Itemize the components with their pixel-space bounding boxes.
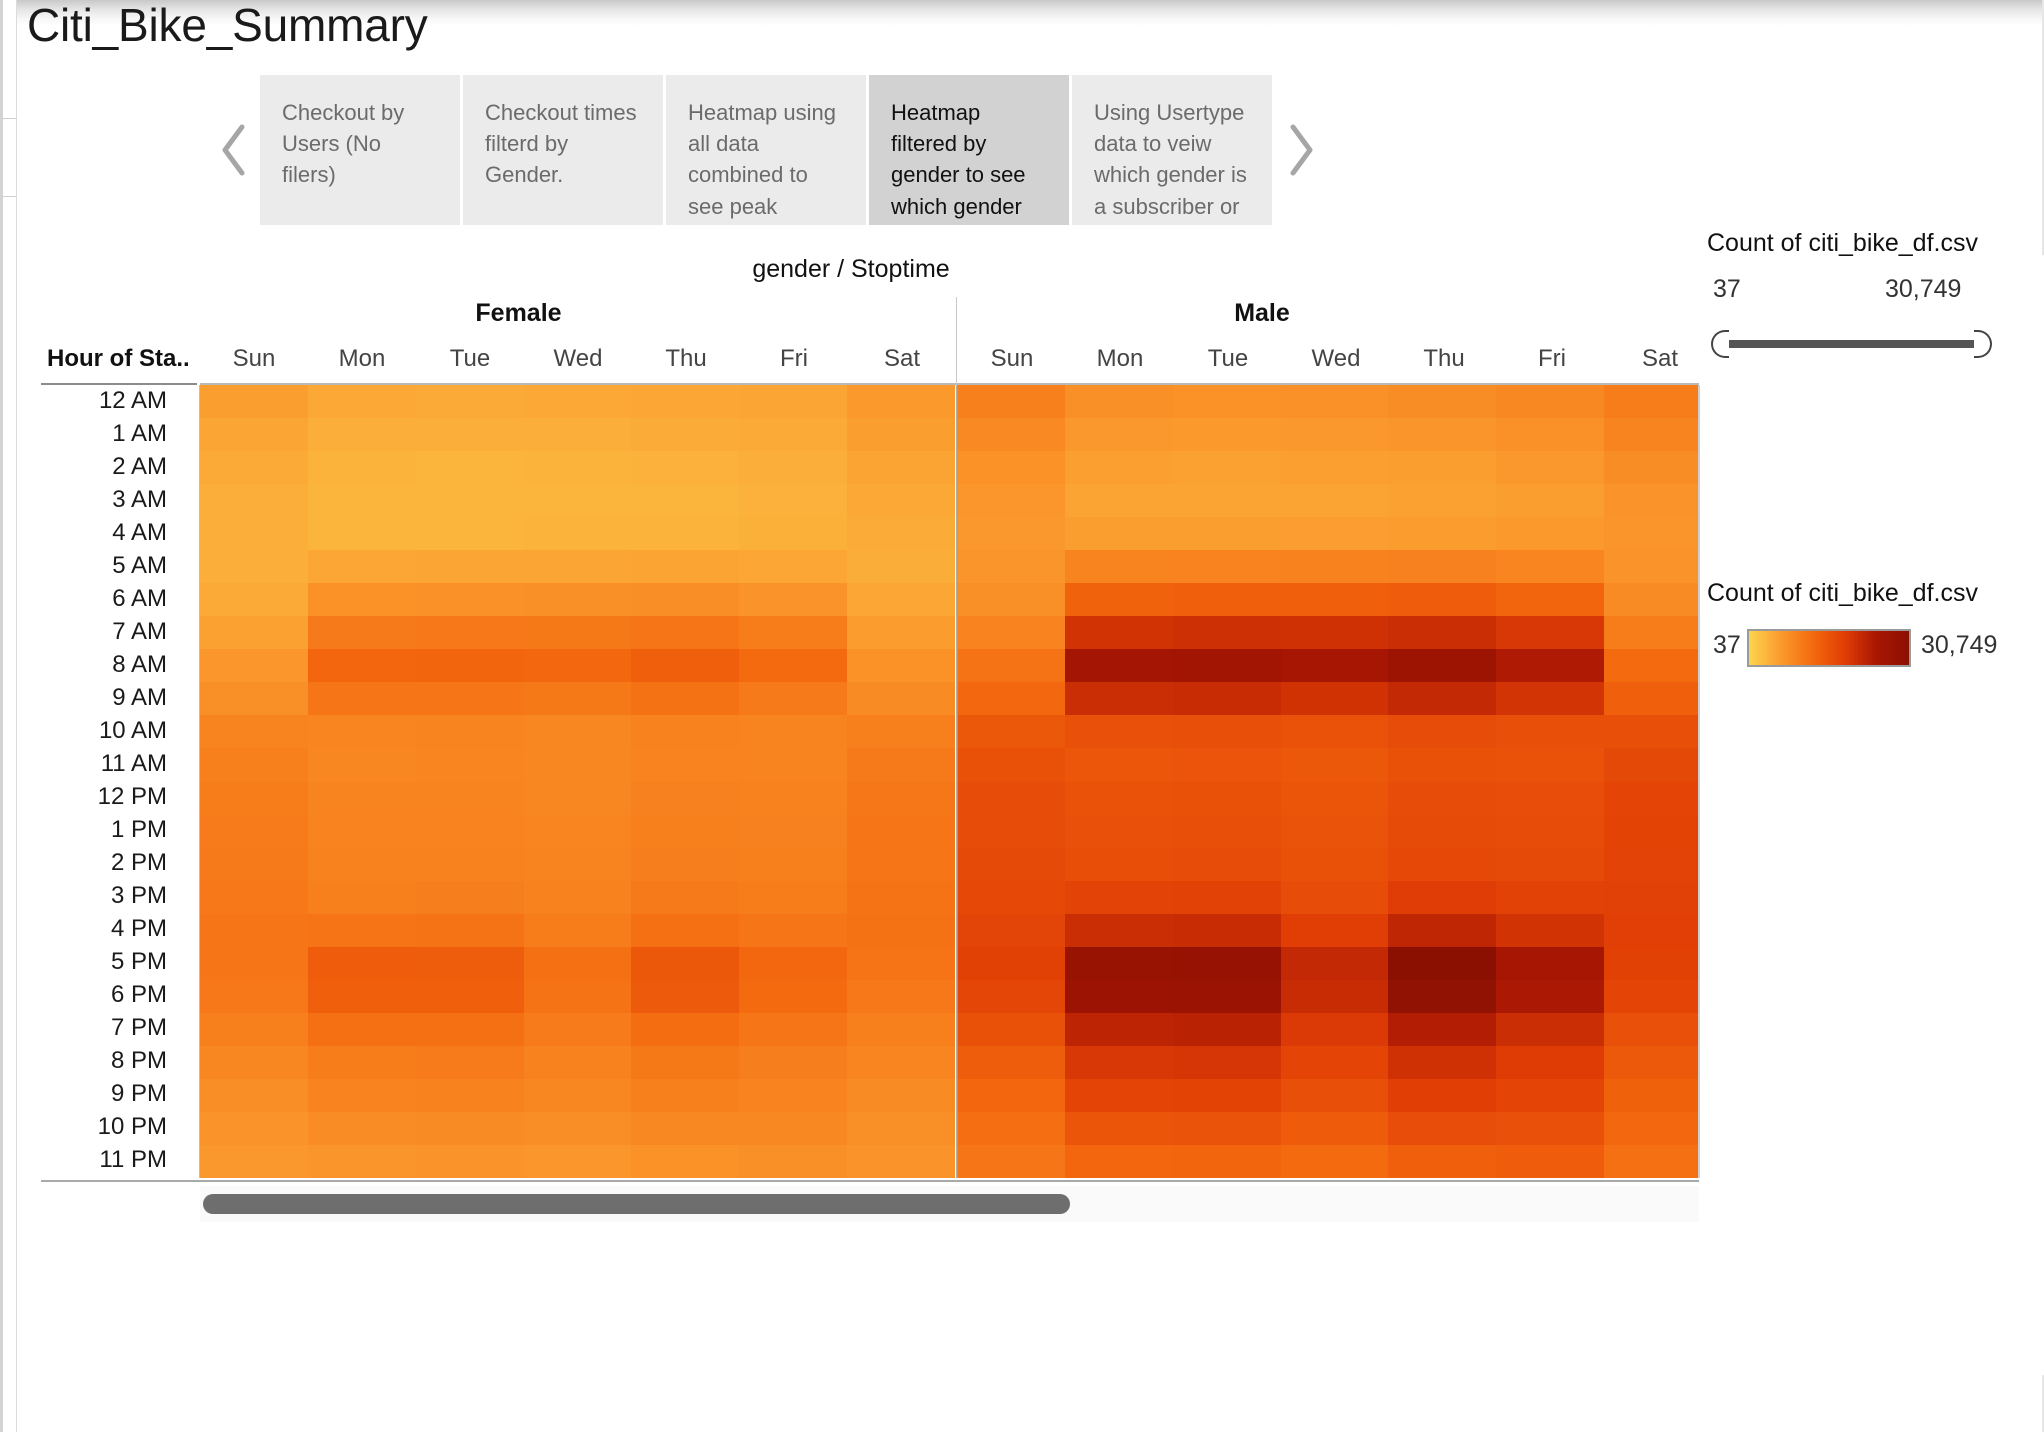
heatmap-cell[interactable]	[957, 1145, 1065, 1178]
heatmap-cell[interactable]	[1173, 848, 1281, 882]
heatmap-cell[interactable]	[1065, 881, 1173, 915]
heatmap-cell[interactable]	[416, 947, 524, 981]
heatmap-cell[interactable]	[1388, 881, 1496, 915]
heatmap-cell[interactable]	[631, 682, 739, 716]
heatmap-cell[interactable]	[739, 782, 847, 816]
heatmap-cell[interactable]	[1604, 1013, 1699, 1047]
heatmap-cell[interactable]	[957, 550, 1065, 584]
heatmap-cell[interactable]	[847, 484, 955, 518]
heatmap-cell[interactable]	[416, 517, 524, 551]
heatmap-cell[interactable]	[524, 715, 632, 749]
heatmap-cell[interactable]	[1496, 583, 1604, 617]
heatmap-cell[interactable]	[200, 881, 308, 915]
heatmap-cell[interactable]	[739, 914, 847, 948]
heatmap-cell[interactable]	[957, 1079, 1065, 1113]
heatmap-cell[interactable]	[200, 418, 308, 452]
heatmap-cell[interactable]	[1173, 947, 1281, 981]
story-tab-4[interactable]: Heatmap filtered by gender to see which …	[869, 75, 1069, 225]
heatmap-cell[interactable]	[524, 748, 632, 782]
heatmap-cell[interactable]	[200, 517, 308, 551]
heatmap-cell[interactable]	[847, 1013, 955, 1047]
heatmap-cell[interactable]	[631, 980, 739, 1014]
heatmap-cell[interactable]	[1281, 649, 1389, 683]
heatmap-cell[interactable]	[739, 748, 847, 782]
heatmap-cell[interactable]	[847, 914, 955, 948]
heatmap-cell[interactable]	[200, 947, 308, 981]
heatmap-cell[interactable]	[308, 682, 416, 716]
heatmap-cell[interactable]	[1173, 682, 1281, 716]
heatmap-cell[interactable]	[631, 1145, 739, 1178]
heatmap-cell[interactable]	[1281, 1079, 1389, 1113]
heatmap-cell[interactable]	[1604, 881, 1699, 915]
heatmap-cell[interactable]	[1281, 1112, 1389, 1146]
heatmap-cell[interactable]	[1173, 583, 1281, 617]
heatmap-cell[interactable]	[1604, 418, 1699, 452]
heatmap-cell[interactable]	[739, 848, 847, 882]
heatmap-cell[interactable]	[1065, 583, 1173, 617]
heatmap-cell[interactable]	[1281, 914, 1389, 948]
heatmap-cell[interactable]	[308, 418, 416, 452]
heatmap-cell[interactable]	[308, 583, 416, 617]
heatmap-cell[interactable]	[957, 715, 1065, 749]
heatmap-cell[interactable]	[1604, 1079, 1699, 1113]
heatmap-cell[interactable]	[739, 1079, 847, 1113]
heatmap-cell[interactable]	[308, 782, 416, 816]
heatmap-cell[interactable]	[308, 385, 416, 419]
heatmap-cell[interactable]	[1281, 1013, 1389, 1047]
heatmap-cell[interactable]	[957, 583, 1065, 617]
heatmap-cell[interactable]	[957, 682, 1065, 716]
heatmap-cell[interactable]	[200, 815, 308, 849]
heatmap-cell[interactable]	[739, 451, 847, 485]
heatmap-cell[interactable]	[1173, 1079, 1281, 1113]
heatmap-cell[interactable]	[1281, 715, 1389, 749]
heatmap-cell[interactable]	[847, 1079, 955, 1113]
heatmap-cell[interactable]	[1281, 550, 1389, 584]
heatmap-cell[interactable]	[1281, 980, 1389, 1014]
heatmap-cell[interactable]	[524, 1079, 632, 1113]
heatmap-cell[interactable]	[200, 484, 308, 518]
heatmap-cell[interactable]	[1173, 715, 1281, 749]
heatmap-cell[interactable]	[200, 1112, 308, 1146]
heatmap-cell[interactable]	[1388, 550, 1496, 584]
heatmap-cell[interactable]	[416, 385, 524, 419]
heatmap-cell[interactable]	[1065, 1013, 1173, 1047]
heatmap-cell[interactable]	[1281, 881, 1389, 915]
heatmap-cell[interactable]	[1388, 815, 1496, 849]
heatmap-cell[interactable]	[957, 980, 1065, 1014]
heatmap-cell[interactable]	[524, 782, 632, 816]
heatmap-cell[interactable]	[1281, 782, 1389, 816]
heatmap-cell[interactable]	[1388, 418, 1496, 452]
heatmap-cell[interactable]	[1604, 583, 1699, 617]
heatmap-cell[interactable]	[1496, 881, 1604, 915]
heatmap-cell[interactable]	[1065, 550, 1173, 584]
heatmap-cell[interactable]	[1065, 616, 1173, 650]
heatmap-cell[interactable]	[200, 1145, 308, 1178]
heatmap-cell[interactable]	[1173, 484, 1281, 518]
heatmap-cell[interactable]	[308, 914, 416, 948]
heatmap-cell[interactable]	[1065, 748, 1173, 782]
heatmap-cell[interactable]	[1604, 848, 1699, 882]
heatmap-cell[interactable]	[524, 682, 632, 716]
heatmap-cell[interactable]	[1388, 583, 1496, 617]
heatmap-cell[interactable]	[1388, 484, 1496, 518]
heatmap-cell[interactable]	[957, 616, 1065, 650]
heatmap-cell[interactable]	[200, 782, 308, 816]
heatmap-cell[interactable]	[739, 385, 847, 419]
heatmap-cell[interactable]	[1281, 451, 1389, 485]
heatmap-cell[interactable]	[524, 385, 632, 419]
heatmap-cell[interactable]	[847, 616, 955, 650]
heatmap-cell[interactable]	[1065, 1112, 1173, 1146]
heatmap-cell[interactable]	[1173, 1013, 1281, 1047]
range-slider-handle-right[interactable]	[1974, 330, 1992, 358]
heatmap-cell[interactable]	[1281, 682, 1389, 716]
heatmap-cell[interactable]	[524, 980, 632, 1014]
heatmap-cell[interactable]	[1496, 815, 1604, 849]
heatmap-cell[interactable]	[847, 1046, 955, 1080]
heatmap-cell[interactable]	[1281, 1145, 1389, 1178]
heatmap-cell[interactable]	[1281, 583, 1389, 617]
heatmap-cell[interactable]	[1496, 715, 1604, 749]
heatmap-cell[interactable]	[1604, 914, 1699, 948]
heatmap-cell[interactable]	[739, 947, 847, 981]
heatmap-cell[interactable]	[1173, 980, 1281, 1014]
heatmap-cell[interactable]	[739, 484, 847, 518]
heatmap-cell[interactable]	[1496, 980, 1604, 1014]
heatmap-cell[interactable]	[1496, 517, 1604, 551]
heatmap-cell[interactable]	[847, 848, 955, 882]
heatmap-cell[interactable]	[200, 385, 308, 419]
heatmap-cell[interactable]	[631, 451, 739, 485]
heatmap-cell[interactable]	[200, 616, 308, 650]
heatmap-cell[interactable]	[739, 1046, 847, 1080]
story-tab-3[interactable]: Heatmap using all data combined to see p…	[666, 75, 866, 225]
heatmap-cell[interactable]	[739, 418, 847, 452]
heatmap-cell[interactable]	[739, 715, 847, 749]
heatmap-cell[interactable]	[847, 1145, 955, 1178]
heatmap-cell[interactable]	[524, 451, 632, 485]
heatmap-cell[interactable]	[957, 418, 1065, 452]
heatmap-cell[interactable]	[308, 881, 416, 915]
story-tab-5[interactable]: Using Usertype data to veiw which gender…	[1072, 75, 1272, 225]
heatmap-cell[interactable]	[957, 1112, 1065, 1146]
heatmap-cell[interactable]	[1388, 682, 1496, 716]
heatmap-cell[interactable]	[957, 947, 1065, 981]
heatmap-cell[interactable]	[739, 1013, 847, 1047]
heatmap-cell[interactable]	[1173, 1145, 1281, 1178]
heatmap-cell[interactable]	[1173, 881, 1281, 915]
heatmap-cell[interactable]	[524, 583, 632, 617]
heatmap-cell[interactable]	[1388, 451, 1496, 485]
heatmap-cell[interactable]	[1281, 815, 1389, 849]
heatmap-cell[interactable]	[200, 1079, 308, 1113]
heatmap-cell[interactable]	[631, 385, 739, 419]
heatmap-cell[interactable]	[1496, 484, 1604, 518]
heatmap-cell[interactable]	[308, 1046, 416, 1080]
heatmap-cell[interactable]	[524, 616, 632, 650]
heatmap-cell[interactable]	[847, 517, 955, 551]
heatmap-cell[interactable]	[847, 980, 955, 1014]
heatmap-cell[interactable]	[1604, 715, 1699, 749]
heatmap-cell[interactable]	[847, 947, 955, 981]
heatmap-cell[interactable]	[1388, 748, 1496, 782]
heatmap-cell[interactable]	[957, 848, 1065, 882]
heatmap-cell[interactable]	[524, 881, 632, 915]
heatmap-cell[interactable]	[1065, 782, 1173, 816]
heatmap-cell[interactable]	[957, 1013, 1065, 1047]
heatmap-cell[interactable]	[1388, 914, 1496, 948]
heatmap-cell[interactable]	[631, 815, 739, 849]
heatmap-cell[interactable]	[200, 1046, 308, 1080]
heatmap-cell[interactable]	[1065, 980, 1173, 1014]
heatmap-cell[interactable]	[1173, 649, 1281, 683]
heatmap-cell[interactable]	[739, 517, 847, 551]
heatmap-cell[interactable]	[847, 682, 955, 716]
horizontal-scrollbar-track[interactable]	[200, 1186, 1699, 1222]
heatmap-cell[interactable]	[308, 748, 416, 782]
heatmap-cell[interactable]	[1065, 1046, 1173, 1080]
heatmap-cell[interactable]	[1281, 418, 1389, 452]
heatmap-cell[interactable]	[200, 980, 308, 1014]
heatmap-cell[interactable]	[1065, 649, 1173, 683]
heatmap-cell[interactable]	[308, 616, 416, 650]
heatmap-cell[interactable]	[1496, 748, 1604, 782]
heatmap-cell[interactable]	[1604, 1145, 1699, 1178]
heatmap-cell[interactable]	[631, 484, 739, 518]
heatmap-cell[interactable]	[847, 815, 955, 849]
heatmap-cell[interactable]	[416, 782, 524, 816]
heatmap-cell[interactable]	[1496, 1112, 1604, 1146]
heatmap-cell[interactable]	[1496, 451, 1604, 485]
heatmap-cell[interactable]	[847, 451, 955, 485]
heatmap-cell[interactable]	[631, 848, 739, 882]
heatmap-cell[interactable]	[200, 649, 308, 683]
heatmap-cell[interactable]	[1388, 848, 1496, 882]
heatmap-cell[interactable]	[1496, 1079, 1604, 1113]
heatmap-cell[interactable]	[1173, 385, 1281, 419]
heatmap-cell[interactable]	[1496, 550, 1604, 584]
heatmap-cell[interactable]	[1173, 418, 1281, 452]
heatmap-cell[interactable]	[1281, 484, 1389, 518]
heatmap-cell[interactable]	[524, 1145, 632, 1178]
heatmap-cell[interactable]	[957, 385, 1065, 419]
heatmap-cell[interactable]	[1496, 848, 1604, 882]
heatmap-cell[interactable]	[200, 550, 308, 584]
heatmap-cell[interactable]	[1065, 484, 1173, 518]
heatmap-cell[interactable]	[524, 484, 632, 518]
heatmap-cell[interactable]	[1388, 616, 1496, 650]
heatmap-cell[interactable]	[1281, 748, 1389, 782]
heatmap-cell[interactable]	[1065, 1079, 1173, 1113]
heatmap-cell[interactable]	[416, 682, 524, 716]
heatmap-cell[interactable]	[1065, 517, 1173, 551]
heatmap-cell[interactable]	[1065, 1145, 1173, 1178]
heatmap-cell[interactable]	[1604, 385, 1699, 419]
heatmap-cell[interactable]	[308, 947, 416, 981]
heatmap-cell[interactable]	[1388, 649, 1496, 683]
heatmap-cell[interactable]	[739, 583, 847, 617]
heatmap-cell[interactable]	[1065, 682, 1173, 716]
heatmap-cell[interactable]	[1388, 1145, 1496, 1178]
heatmap-cell[interactable]	[308, 451, 416, 485]
heatmap-cell[interactable]	[416, 1112, 524, 1146]
heatmap-cell[interactable]	[1281, 947, 1389, 981]
heatmap-cell[interactable]	[1388, 1112, 1496, 1146]
heatmap-cell[interactable]	[631, 1046, 739, 1080]
heatmap-cell[interactable]	[1281, 517, 1389, 551]
heatmap-cell[interactable]	[200, 1013, 308, 1047]
heatmap-cell[interactable]	[1604, 682, 1699, 716]
heatmap-cell[interactable]	[416, 914, 524, 948]
heatmap-cell[interactable]	[631, 715, 739, 749]
heatmap-cell[interactable]	[739, 649, 847, 683]
heatmap-cell[interactable]	[739, 1112, 847, 1146]
heatmap-cell[interactable]	[631, 649, 739, 683]
heatmap-cell[interactable]	[739, 682, 847, 716]
heatmap-cell[interactable]	[631, 616, 739, 650]
heatmap-cell[interactable]	[1281, 848, 1389, 882]
heatmap-cell[interactable]	[1604, 1112, 1699, 1146]
heatmap-cell[interactable]	[416, 881, 524, 915]
heatmap-cell[interactable]	[957, 517, 1065, 551]
heatmap-cell[interactable]	[631, 748, 739, 782]
heatmap-cell[interactable]	[1173, 550, 1281, 584]
heatmap-cell[interactable]	[200, 682, 308, 716]
heatmap-cell[interactable]	[416, 715, 524, 749]
heatmap-cell[interactable]	[524, 1013, 632, 1047]
heatmap-cells[interactable]	[200, 385, 1699, 1178]
heatmap-cell[interactable]	[1496, 1145, 1604, 1178]
chevron-left-icon[interactable]	[208, 75, 260, 225]
heatmap-cell[interactable]	[416, 616, 524, 650]
heatmap-cell[interactable]	[1496, 914, 1604, 948]
horizontal-scrollbar-thumb[interactable]	[203, 1194, 1070, 1214]
heatmap-cell[interactable]	[416, 1046, 524, 1080]
heatmap-cell[interactable]	[308, 980, 416, 1014]
heatmap-cell[interactable]	[416, 451, 524, 485]
heatmap-cell[interactable]	[1496, 418, 1604, 452]
heatmap-cell[interactable]	[957, 815, 1065, 849]
heatmap-cell[interactable]	[200, 583, 308, 617]
story-tab-2[interactable]: Checkout times filterd by Gender.	[463, 75, 663, 225]
heatmap-cell[interactable]	[631, 1013, 739, 1047]
heatmap-cell[interactable]	[631, 947, 739, 981]
heatmap-cell[interactable]	[631, 1079, 739, 1113]
heatmap-cell[interactable]	[1604, 649, 1699, 683]
heatmap-cell[interactable]	[739, 1145, 847, 1178]
heatmap-cell[interactable]	[1173, 517, 1281, 551]
heatmap-cell[interactable]	[1496, 682, 1604, 716]
heatmap-cell[interactable]	[524, 649, 632, 683]
heatmap-cell[interactable]	[200, 715, 308, 749]
heatmap-cell[interactable]	[200, 748, 308, 782]
heatmap-cell[interactable]	[1388, 782, 1496, 816]
heatmap-cell[interactable]	[200, 451, 308, 485]
heatmap-cell[interactable]	[1604, 947, 1699, 981]
heatmap-cell[interactable]	[1065, 848, 1173, 882]
heatmap-cell[interactable]	[957, 649, 1065, 683]
heatmap-cell[interactable]	[524, 1112, 632, 1146]
heatmap-cell[interactable]	[1604, 451, 1699, 485]
heatmap-cell[interactable]	[847, 748, 955, 782]
heatmap-cell[interactable]	[1173, 782, 1281, 816]
heatmap-cell[interactable]	[1281, 385, 1389, 419]
heatmap-cell[interactable]	[1173, 748, 1281, 782]
story-tab-1[interactable]: Checkout by Users (No filers)	[260, 75, 460, 225]
heatmap-cell[interactable]	[524, 550, 632, 584]
heatmap-cell[interactable]	[200, 848, 308, 882]
heatmap-cell[interactable]	[1388, 980, 1496, 1014]
heatmap-cell[interactable]	[308, 815, 416, 849]
heatmap-cell[interactable]	[1388, 517, 1496, 551]
heatmap-cell[interactable]	[308, 1145, 416, 1178]
heatmap-cell[interactable]	[739, 881, 847, 915]
heatmap-cell[interactable]	[1388, 715, 1496, 749]
heatmap-cell[interactable]	[1388, 1079, 1496, 1113]
heatmap-cell[interactable]	[1496, 947, 1604, 981]
heatmap-cell[interactable]	[416, 1079, 524, 1113]
heatmap-cell[interactable]	[1496, 782, 1604, 816]
heatmap-cell[interactable]	[416, 980, 524, 1014]
heatmap-cell[interactable]	[524, 914, 632, 948]
heatmap-cell[interactable]	[847, 583, 955, 617]
heatmap-cell[interactable]	[1604, 748, 1699, 782]
heatmap-cell[interactable]	[739, 980, 847, 1014]
heatmap-cell[interactable]	[1604, 517, 1699, 551]
heatmap-cell[interactable]	[847, 782, 955, 816]
heatmap-cell[interactable]	[1281, 616, 1389, 650]
heatmap-cell[interactable]	[308, 1079, 416, 1113]
heatmap-cell[interactable]	[524, 815, 632, 849]
heatmap-cell[interactable]	[416, 649, 524, 683]
heatmap-cell[interactable]	[416, 815, 524, 849]
heatmap-cell[interactable]	[631, 583, 739, 617]
heatmap-cell[interactable]	[308, 517, 416, 551]
heatmap-cell[interactable]	[847, 418, 955, 452]
heatmap-cell[interactable]	[1173, 616, 1281, 650]
heatmap-cell[interactable]	[847, 550, 955, 584]
heatmap-cell[interactable]	[1388, 1013, 1496, 1047]
heatmap-cell[interactable]	[739, 815, 847, 849]
chevron-right-icon[interactable]	[1275, 75, 1327, 225]
heatmap-cell[interactable]	[416, 748, 524, 782]
heatmap-cell[interactable]	[631, 418, 739, 452]
heatmap-cell[interactable]	[1496, 1046, 1604, 1080]
heatmap-cell[interactable]	[1065, 418, 1173, 452]
heatmap-cell[interactable]	[631, 517, 739, 551]
heatmap-cell[interactable]	[1065, 815, 1173, 849]
heatmap-cell[interactable]	[308, 550, 416, 584]
heatmap-cell[interactable]	[308, 649, 416, 683]
heatmap-cell[interactable]	[416, 484, 524, 518]
heatmap-cell[interactable]	[1281, 1046, 1389, 1080]
heatmap-cell[interactable]	[308, 848, 416, 882]
heatmap-cell[interactable]	[847, 881, 955, 915]
heatmap-cell[interactable]	[1065, 947, 1173, 981]
heatmap-cell[interactable]	[308, 715, 416, 749]
heatmap-cell[interactable]	[957, 451, 1065, 485]
heatmap-cell[interactable]	[1604, 484, 1699, 518]
heatmap-cell[interactable]	[957, 782, 1065, 816]
range-slider[interactable]	[1708, 328, 1994, 358]
heatmap-cell[interactable]	[1065, 715, 1173, 749]
heatmap-cell[interactable]	[631, 1112, 739, 1146]
heatmap-cell[interactable]	[847, 715, 955, 749]
heatmap-cell[interactable]	[1173, 1046, 1281, 1080]
heatmap-cell[interactable]	[1604, 782, 1699, 816]
